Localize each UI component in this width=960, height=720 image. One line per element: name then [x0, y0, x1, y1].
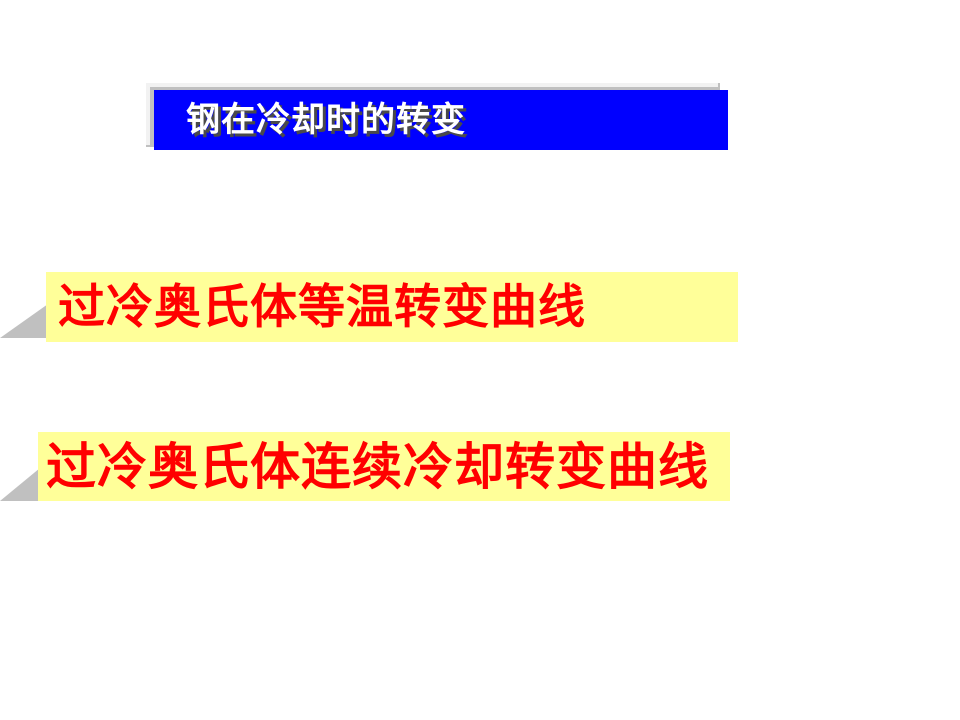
slide-title-block: 钢在冷却时的转变 [146, 83, 728, 150]
page-title: 钢在冷却时的转变 [186, 103, 466, 137]
callout-tail-triangle [0, 304, 48, 338]
callout-isothermal-transformation-curve[interactable]: 过冷奥氏体等温转变曲线 [0, 272, 738, 342]
callout-tail-triangle [0, 468, 40, 501]
callout-label: 过冷奥氏体连续冷却转变曲线 [46, 442, 709, 492]
presentation-slide: 钢在冷却时的转变 过冷奥氏体等温转变曲线 过冷奥氏体连续冷却转变曲线 [0, 0, 960, 720]
callout-continuous-cooling-curve[interactable]: 过冷奥氏体连续冷却转变曲线 [0, 432, 730, 501]
callout-label: 过冷奥氏体等温转变曲线 [58, 284, 586, 331]
title-bar: 钢在冷却时的转变 [154, 90, 728, 150]
callout-body: 过冷奥氏体连续冷却转变曲线 [38, 432, 730, 501]
callout-body: 过冷奥氏体等温转变曲线 [46, 272, 738, 342]
